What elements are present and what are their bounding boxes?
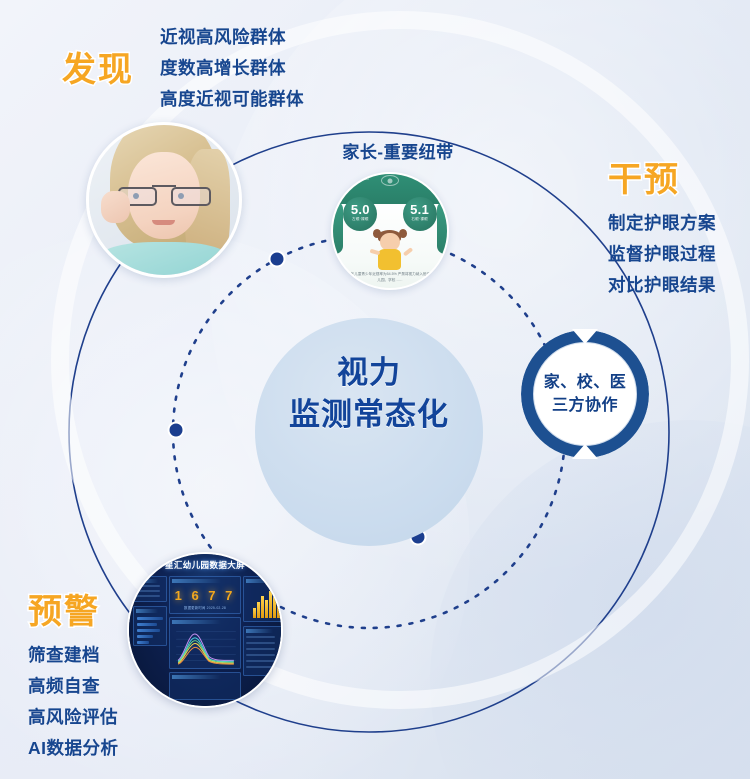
panel-tick xyxy=(136,585,160,587)
intervene-item-0: 制定护眼方案 xyxy=(608,208,716,239)
panel-tick xyxy=(246,660,275,662)
dashboard-panel-left-1 xyxy=(133,576,167,602)
panel-header-bar xyxy=(136,579,158,583)
panel-bar-row xyxy=(137,641,149,644)
panel-header-bar xyxy=(246,579,273,583)
panel-header-bar xyxy=(172,579,221,583)
warning-item-3: AI数据分析 xyxy=(28,733,119,764)
panel-tick xyxy=(246,636,275,638)
panel-tick xyxy=(246,666,275,668)
vision-app-screenshot: 2025-02-28 5.0 左眼·裸眼 5.1 右眼·裸眼 2022年儿童青少… xyxy=(331,172,449,290)
dashboard-title: 星汇幼儿园数据大屏 xyxy=(129,559,281,571)
glasses-bridge xyxy=(152,185,176,187)
dashboard-line-chart-panel xyxy=(169,617,241,669)
badge-notch-bottom-icon xyxy=(572,444,598,459)
center-title-line1: 视力 xyxy=(247,352,491,394)
panel-bar-row xyxy=(137,623,157,626)
discover-item-2: 高度近视可能群体 xyxy=(160,84,304,115)
illustration-head xyxy=(380,233,399,251)
background-glow-bottom xyxy=(430,420,750,779)
warning-item-1: 高频自查 xyxy=(28,671,119,702)
eyeglasses-icon xyxy=(118,187,211,207)
warning-item-0: 筛查建档 xyxy=(28,640,119,671)
badge-label-line2: 三方协作 xyxy=(521,394,649,417)
dashboard-bottom-panel xyxy=(169,672,241,700)
center-title-line2: 监测常态化 xyxy=(247,394,491,436)
panel-tick xyxy=(136,595,160,597)
dashboard-bar-chart-panel xyxy=(243,576,283,622)
eye-icon xyxy=(381,175,399,186)
chart-bar xyxy=(253,608,256,618)
child-photo-circle xyxy=(86,122,242,278)
discover-item-0: 近视高风险群体 xyxy=(160,22,304,53)
kpi-value: 1 6 7 7 xyxy=(170,588,240,603)
warning-item-2: 高风险评估 xyxy=(28,702,119,733)
shirt-shape xyxy=(98,242,230,278)
center-title: 视力 监测常态化 xyxy=(247,352,491,436)
left-eye-unit: 左眼·裸眼 xyxy=(343,217,377,222)
child-illustration xyxy=(374,231,406,272)
dashboard-panel-left-2 xyxy=(133,606,167,646)
mouth-shape xyxy=(152,220,175,225)
panel-header-bar xyxy=(246,629,273,633)
infographic-canvas: 视力 监测常态化 发现 近视高风险群体 度数高增长群体 高度近视可能群体 干预 … xyxy=(0,0,750,779)
chart-bar xyxy=(265,600,268,618)
app-side-right xyxy=(437,201,447,253)
data-dashboard-screenshot: 星汇幼儿园数据大屏 1 6 7 7 数据更新时间 2025-02-28 xyxy=(127,552,283,708)
panel-bar-row xyxy=(137,635,153,638)
chart-bar xyxy=(269,591,272,618)
panel-header-bar xyxy=(172,675,221,679)
app-record-date: 2025-02-28 xyxy=(344,176,368,181)
panel-bar-row xyxy=(137,629,160,632)
panel-tick xyxy=(246,648,275,650)
section-items-intervene: 制定护眼方案 监督护眼过程 对比护眼结果 xyxy=(608,208,716,301)
section-heading-discover: 发现 xyxy=(62,42,134,91)
discover-item-1: 度数高增长群体 xyxy=(160,53,304,84)
chart-bar xyxy=(261,596,264,618)
badge-label-line1: 家、校、医 xyxy=(521,371,649,394)
dashboard-kpi-panel: 1 6 7 7 数据更新时间 2025-02-28 xyxy=(169,576,241,614)
orbit-node-left xyxy=(169,423,184,438)
orbit-node-top xyxy=(270,252,285,267)
hand-shape xyxy=(101,191,130,223)
intervene-item-1: 监督护眼过程 xyxy=(608,239,716,270)
chart-bar xyxy=(257,602,260,618)
section-heading-warning: 预警 xyxy=(28,584,100,633)
section-heading-intervene: 干预 xyxy=(608,152,680,201)
chart-bar xyxy=(277,588,280,618)
panel-tick xyxy=(136,590,160,592)
intervene-item-2: 对比护眼结果 xyxy=(608,270,716,301)
panel-tick xyxy=(246,654,275,656)
dashboard-list-panel xyxy=(243,626,283,676)
lens-right xyxy=(171,187,210,207)
app-note-text: 2022年儿童青少年近视率为54.5% 严禁将视力纳入班级、幼儿园、学校…… xyxy=(342,272,438,283)
section-items-warning: 筛查建档 高频自查 高风险评估 AI数据分析 xyxy=(28,640,119,764)
collaboration-badge: 家、校、医 三方协作 xyxy=(521,330,649,458)
right-eye-value-chip: 5.1 右眼·裸眼 xyxy=(403,197,437,231)
illustration-body xyxy=(378,249,401,270)
parent-node-label: 家长-重要纽带 xyxy=(318,138,478,163)
app-side-left xyxy=(333,201,343,253)
right-eye-unit: 右眼·裸眼 xyxy=(403,217,437,222)
panel-bar-row xyxy=(137,617,163,620)
chart-bar xyxy=(273,597,276,618)
badge-notch-top-icon xyxy=(572,329,598,344)
kpi-caption: 数据更新时间 2025-02-28 xyxy=(170,605,240,610)
panel-header-bar xyxy=(136,609,158,613)
section-items-discover: 近视高风险群体 度数高增长群体 高度近视可能群体 xyxy=(160,22,304,115)
badge-label: 家、校、医 三方协作 xyxy=(521,371,649,417)
line-chart-svg xyxy=(170,618,240,668)
panel-tick xyxy=(246,642,275,644)
